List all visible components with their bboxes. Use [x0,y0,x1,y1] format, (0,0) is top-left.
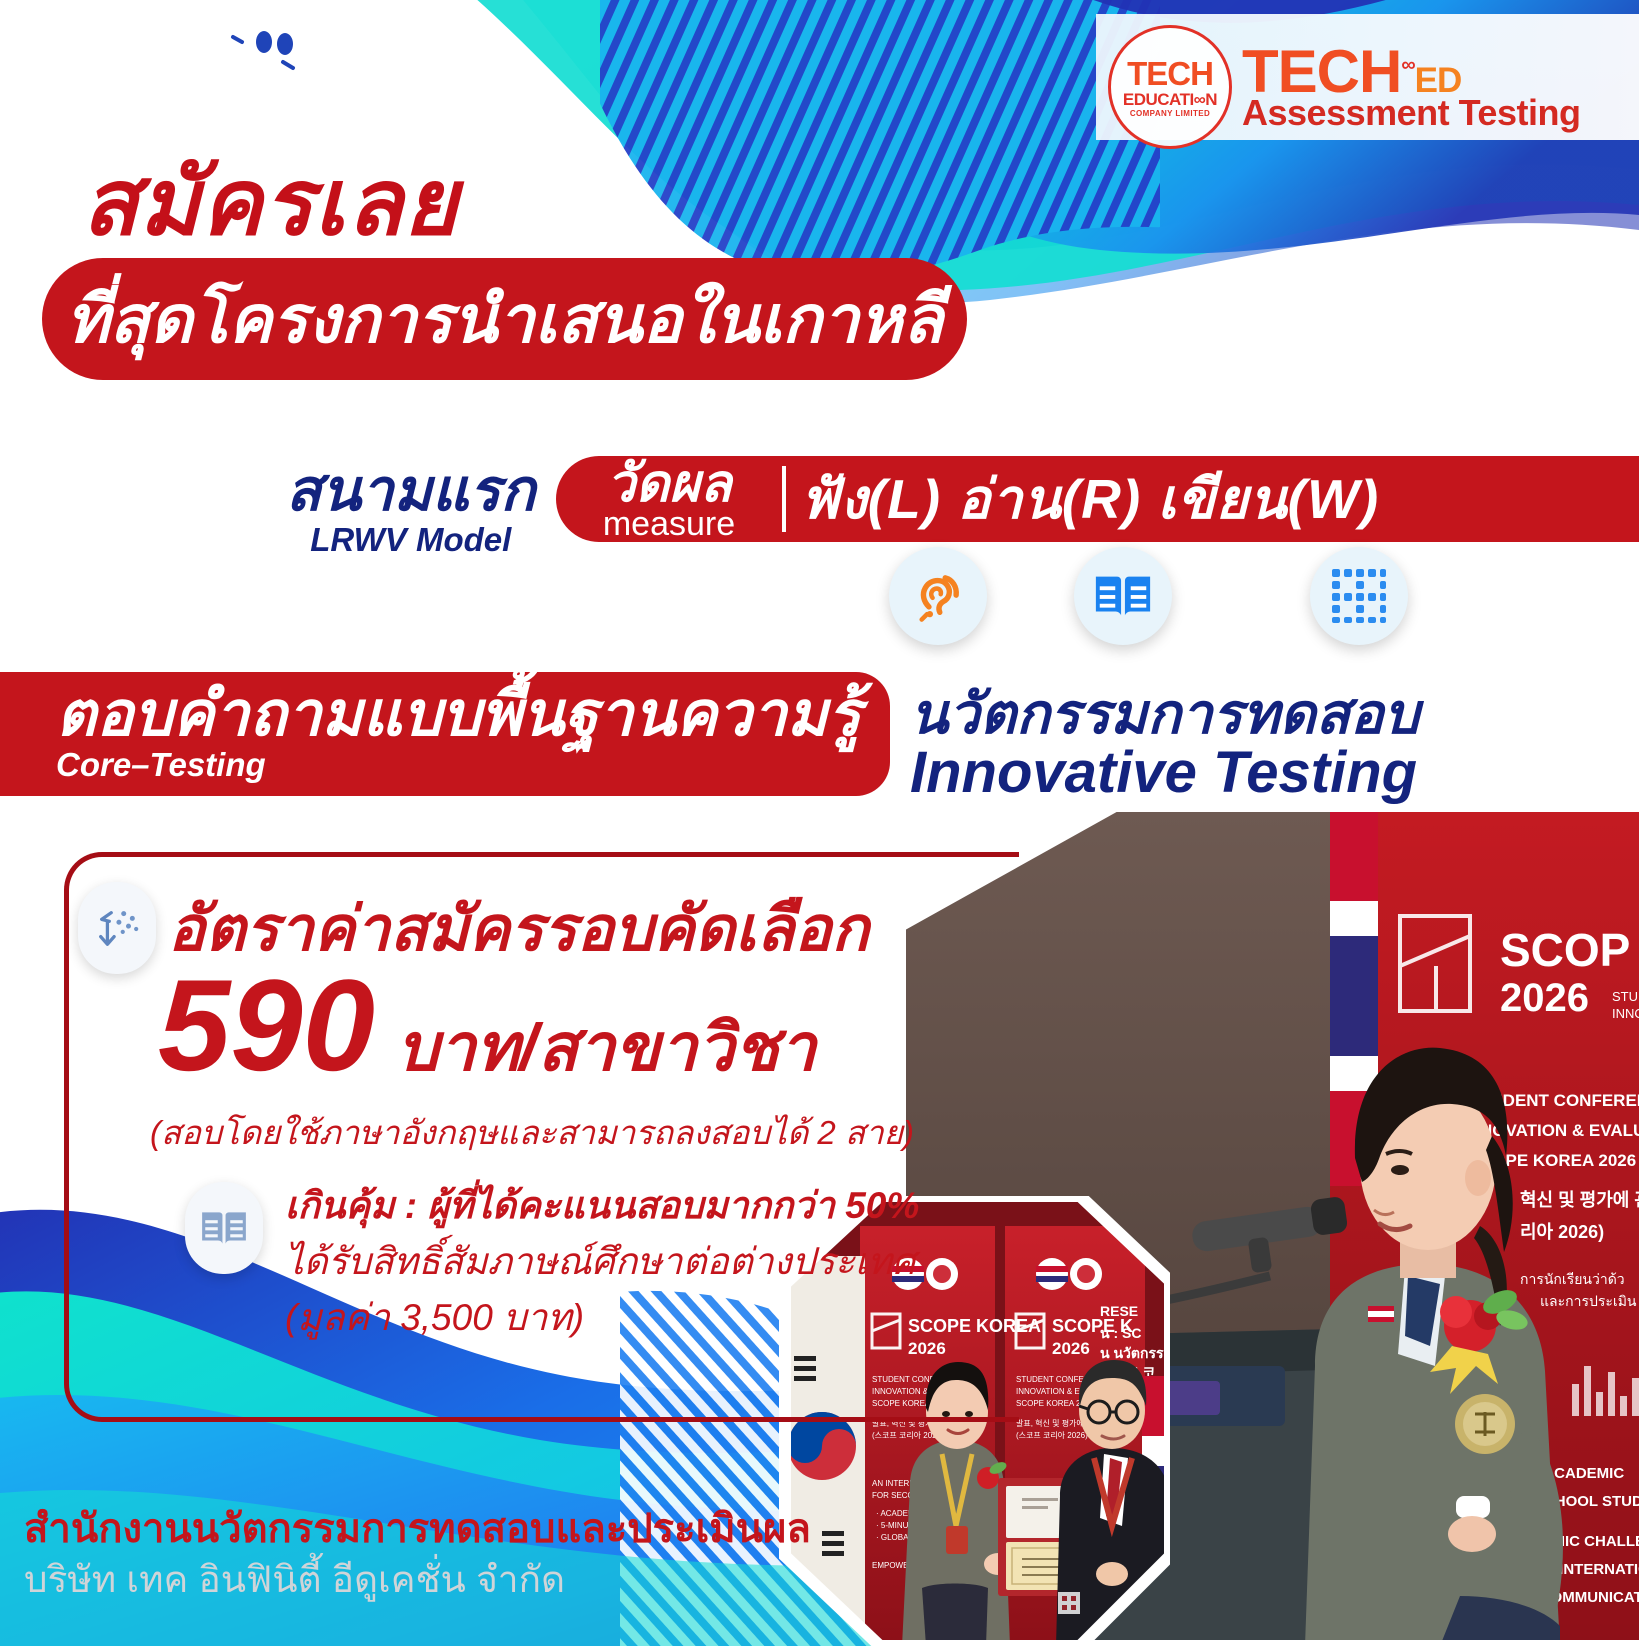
price-amount: 590 [158,960,375,1090]
bonus-line-2: ได้รับสิทธิ์สัมภาษณ์ศึกษาต่อต่างประเทศ [285,1234,885,1290]
infinity-icon: ∞ [1401,54,1414,76]
lrwv-th: สนามแรก [286,462,536,520]
bonus-line-3: (มูลค่า 3,500 บาท) [285,1290,885,1346]
measure-label: วัดผล measure [556,458,782,541]
svg-text:STU: STU [1612,989,1638,1004]
listening-ear-icon [889,547,987,645]
footer-company: บริษัท เทค อินฟินิตี้ อีดูเคชั่น จำกัด [24,1558,811,1602]
bonus-line-1: เกินคุ้ม : ผู้ที่ได้คะแนนสอบมากกว่า 50% [285,1178,885,1234]
measure-th: วัดผล [556,458,782,510]
innovative-en: Innovative Testing [910,744,1419,802]
wordmark-ed: ED [1415,61,1462,100]
measure-en: measure [556,507,782,541]
book-svg-bonus [199,1207,249,1249]
headline-pill-text: ที่สุดโครงการนำเสนอในเกาหลี [66,267,943,372]
svg-text:น : SC: น : SC [1100,1325,1141,1341]
wordmark-tech: TECH [1242,38,1401,105]
skills-list: ฟัง(L) อ่าน(R) เขียน(W) [800,456,1379,543]
reading-book-icon-bonus [185,1182,263,1274]
seal-line-3: COMPANY LIMITED [1130,110,1210,118]
poster-root: TECH EDUCATI∞N COMPANY LIMITED TECH∞ED A… [0,0,1639,1646]
wordmark-top: TECH∞ED [1242,43,1580,100]
svg-text:การนักเรียนว่าด้ว: การนักเรียนว่าด้ว [1520,1271,1625,1287]
svg-text:리아 2026): 리아 2026) [1520,1222,1604,1242]
innovative-testing-label: นวัตกรรมการทดสอบ Innovative Testing [910,686,1419,802]
network-download-icon [78,882,156,974]
bonus-text-block: เกินคุ้ม : ผู้ที่ได้คะแนนสอบมากกว่า 50% … [285,1178,885,1347]
svg-text:INNOV: INNOV [1612,1006,1639,1021]
svg-text:2026: 2026 [1052,1339,1090,1358]
price-amount-row: 590 บาท/สาขาวิชา [158,960,816,1100]
price-unit: บาท/สาขาวิชา [397,995,816,1100]
writing-grid-icon [1310,547,1408,645]
footer-office: สำนักงานนวัตกรรมการทดสอบและประเมินผล [24,1506,811,1552]
measure-skills-bar: วัดผล measure ฟัง(L) อ่าน(R) เขียน(W) [556,456,1639,542]
svg-text:(스코프 코리아 2026): (스코프 코리아 2026) [1016,1430,1088,1440]
page-title: สมัครเลย [82,128,458,275]
grid-svg [1330,567,1388,625]
svg-text:RESE: RESE [1100,1303,1138,1319]
vertical-divider [782,466,786,532]
ear-svg [909,567,967,625]
svg-text:น นวัตกรร: น นวัตกรร [1100,1345,1164,1361]
seal-line-2: EDUCATI∞N [1123,91,1217,108]
lrwv-en: LRWV Model [286,522,536,558]
svg-text:และการประเมิน: และการประเมิน [1540,1293,1637,1309]
core-testing-band: ตอบคำถามแบบพื้นฐานความรู้ Core–Testing [0,672,890,796]
headline-pill: ที่สุดโครงการนำเสนอในเกาหลี [42,258,967,380]
seal-line-1: TECH [1127,57,1213,90]
book-svg [1092,570,1154,622]
lrwv-model-label: สนามแรก LRWV Model [286,462,536,558]
svg-text:혁신 및 평가에 관한: 혁신 및 평가에 관한 [1520,1189,1639,1210]
svg-text:2026: 2026 [1500,976,1589,1020]
price-note: (สอบโดยใช้ภาษาอังกฤษและสามารถลงสอบได้ 2 … [150,1106,914,1159]
brand-wordmark: TECH∞ED Assessment Testing [1242,43,1580,130]
reading-book-icon [1074,547,1172,645]
core-testing-th: ตอบคำถามแบบพื้นฐานความรู้ [56,684,890,746]
svg-text:SCOP: SCOP [1500,924,1630,976]
tech-education-seal-icon: TECH EDUCATI∞N COMPANY LIMITED [1108,25,1232,149]
network-svg [94,905,140,951]
core-testing-en: Core–Testing [56,747,890,783]
brand-logo: TECH EDUCATI∞N COMPANY LIMITED TECH∞ED A… [1108,28,1613,146]
footer: สำนักงานนวัตกรรมการทดสอบและประเมินผล บริ… [24,1506,811,1602]
innovative-th: นวัตกรรมการทดสอบ [910,686,1419,742]
